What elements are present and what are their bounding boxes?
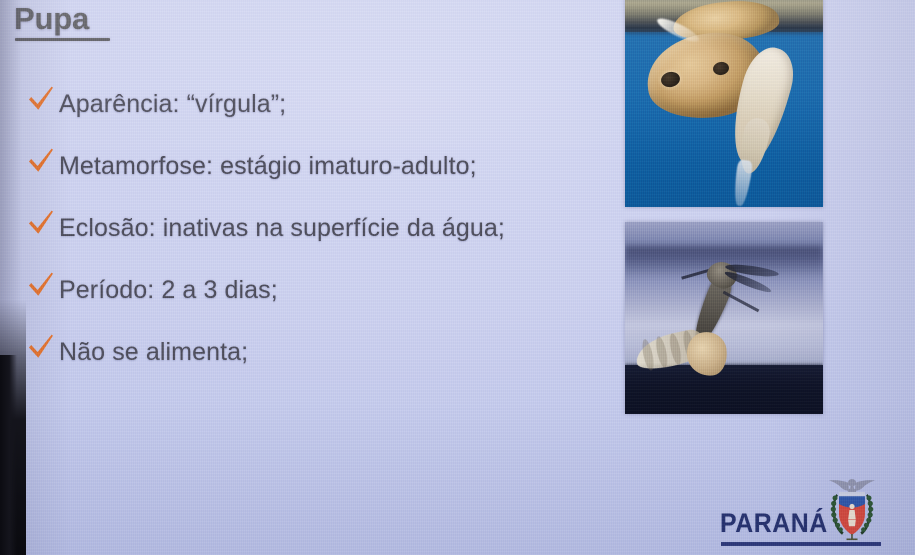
- bullet-item: Metamorfose: estágio imaturo-adulto;: [26, 144, 616, 206]
- bullet-text: Eclosão: inativas na superfície da água;: [59, 214, 505, 243]
- checkmark-icon: [26, 208, 56, 238]
- photo-emerging-adult: Mosquito adulto emergindo da exúvia da p…: [625, 222, 823, 414]
- bullet-list: Aparência: “vírgula”; Metamorfose: estág…: [26, 82, 616, 392]
- checkmark-icon: [26, 84, 56, 114]
- bullet-text: Aparência: “vírgula”;: [59, 90, 286, 119]
- title-underline: [15, 38, 110, 41]
- screen-edge-dark: [0, 355, 17, 555]
- projected-slide-photo: Pupa Aparência: “vírgula”; Metamorfose:: [0, 0, 915, 555]
- dark-water: [625, 365, 823, 414]
- bullet-text: Não se alimenta;: [59, 338, 248, 367]
- bullet-item: Período: 2 a 3 dias;: [26, 268, 616, 330]
- checkmark-icon: [26, 332, 56, 362]
- bullet-text: Metamorfose: estágio imaturo-adulto;: [59, 152, 477, 181]
- slide-title: Pupa: [14, 2, 89, 35]
- bullet-item: Aparência: “vírgula”;: [26, 82, 616, 144]
- checkmark-icon: [26, 270, 56, 300]
- brand-lockup: PARANÁ: [718, 472, 888, 555]
- photo-pupa-water: Pupa de mosquito suspensa na superfície …: [625, 0, 823, 207]
- screen-edge-shadow: [0, 0, 26, 555]
- checkmark-icon: [26, 146, 56, 176]
- bullet-text: Período: 2 a 3 dias;: [59, 276, 278, 305]
- slide-surface: Pupa Aparência: “vírgula”; Metamorfose:: [0, 0, 915, 555]
- bullet-item: Eclosão: inativas na superfície da água;: [26, 206, 616, 268]
- pupa-paddle: [732, 159, 753, 207]
- brand-rule: [721, 542, 881, 546]
- parana-wordmark: PARANÁ: [720, 508, 828, 539]
- bullet-item: Não se alimenta;: [26, 330, 616, 392]
- parana-coat-of-arms-icon: [824, 472, 880, 542]
